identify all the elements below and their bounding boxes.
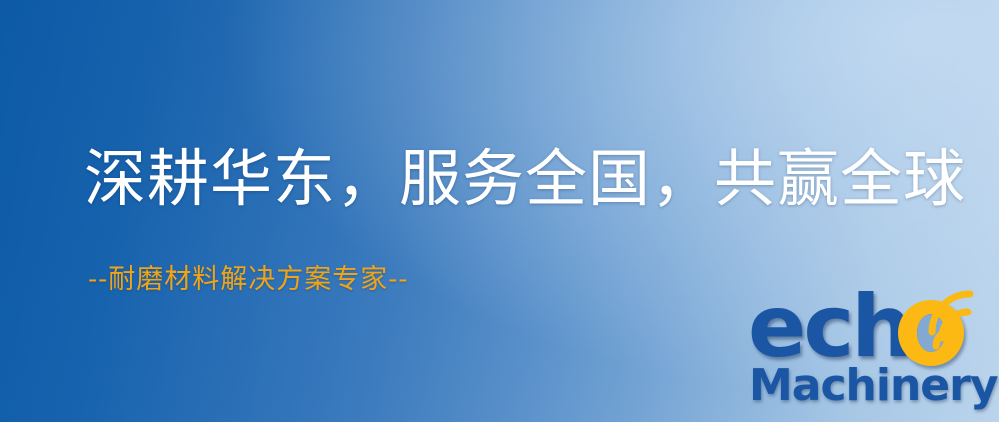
logo-machinery-label: Machinery <box>749 360 998 411</box>
signal-waves-icon <box>934 280 999 350</box>
promo-banner: 深耕华东，服务全国，共赢全球 --耐磨材料解决方案专家-- ech Machin… <box>0 0 999 422</box>
echo-machinery-logo: ech Machinery® <box>748 296 999 422</box>
logo-wordmark-row: ech <box>748 296 999 370</box>
banner-headline: 深耕华东，服务全国，共赢全球 <box>84 148 966 210</box>
logo-text-machinery: Machinery® <box>749 364 999 408</box>
logo-text-ech: ech <box>748 284 910 370</box>
banner-subtitle: --耐磨材料解决方案专家-- <box>88 266 409 293</box>
